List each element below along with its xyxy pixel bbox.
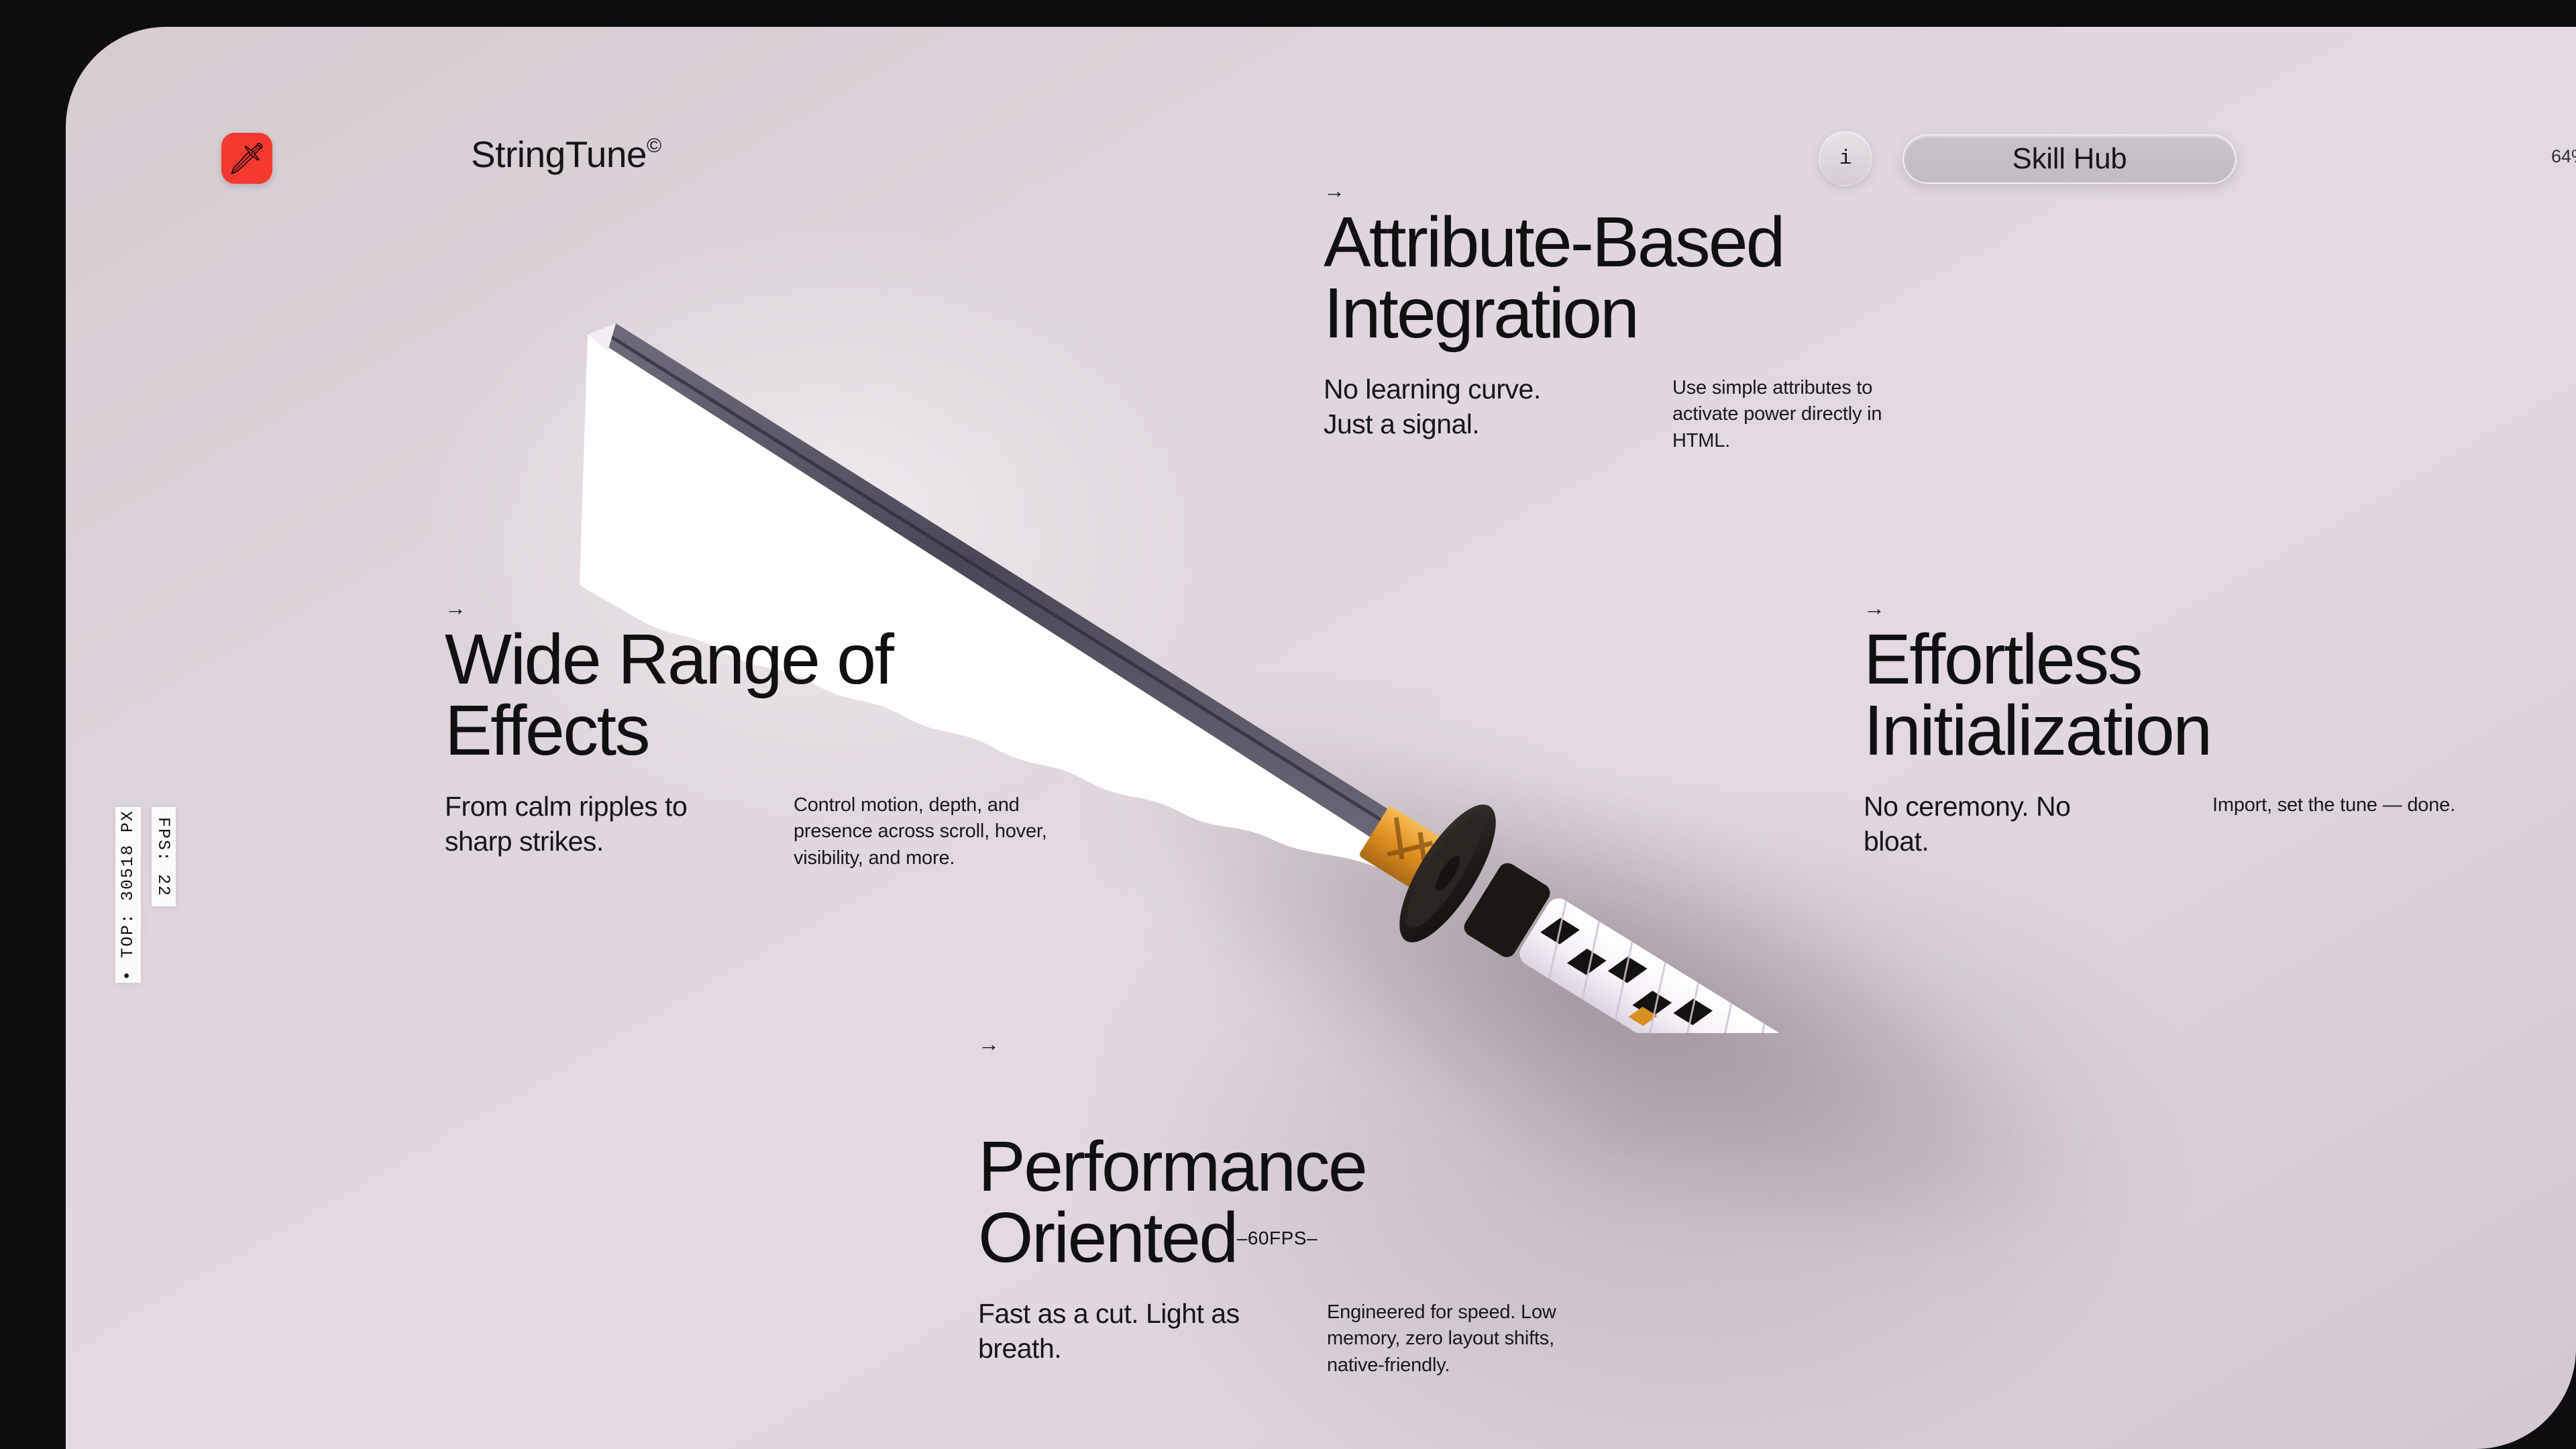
feature-lead: From calm ripples to sharp strikes. bbox=[445, 789, 794, 871]
feature-description: Import, set the tune — done. bbox=[2212, 792, 2548, 859]
scroll-top-value: • TOP: 30518 PX bbox=[119, 809, 138, 980]
copyright-mark: © bbox=[647, 135, 661, 157]
arrow-right-icon: → bbox=[1864, 597, 2576, 619]
feature-performance-oriented: → Performance Oriented–60FPS– Fast as a … bbox=[978, 1033, 1783, 1379]
feature-description: Control motion, depth, and presence acro… bbox=[794, 792, 1129, 871]
fps-value: FPS: 22 bbox=[154, 816, 174, 896]
feature-title: Wide Range of Effects bbox=[445, 624, 1183, 766]
feature-wide-range-of-effects: → Wide Range of Effects From calm ripple… bbox=[445, 597, 1183, 871]
feature-lead: No learning curve. Just a signal. bbox=[1324, 372, 1672, 454]
hero-stage: 🗡 StringTune© i Skill Hub 64% FPS: 22 • … bbox=[66, 27, 2576, 1449]
app-logo-icon[interactable]: 🗡 bbox=[221, 133, 272, 184]
feature-title: Effortless Initialization bbox=[1864, 624, 2576, 766]
katana-sword-icon: 🗡 bbox=[227, 143, 266, 174]
app-window: 🗡 StringTune© i Skill Hub 64% FPS: 22 • … bbox=[0, 0, 2576, 1449]
feature-title: Performance Oriented–60FPS– bbox=[978, 1060, 1783, 1273]
skill-hub-label: Skill Hub bbox=[2012, 142, 2127, 176]
feature-body: No ceremony. No bloat. Import, set the t… bbox=[1864, 789, 2576, 859]
arrow-right-icon: → bbox=[1324, 180, 2095, 201]
feature-body: Fast as a cut. Light as breath. Engineer… bbox=[978, 1296, 1783, 1379]
app-title-text: StringTune bbox=[471, 133, 647, 175]
top-bar: 🗡 StringTune© i Skill Hub 64% bbox=[66, 27, 2576, 188]
scroll-top-telemetry-strip: • TOP: 30518 PX bbox=[115, 807, 141, 983]
arrow-right-icon: → bbox=[445, 597, 1183, 619]
fps-telemetry-strip: FPS: 22 bbox=[152, 807, 176, 906]
feature-title-text: Performance Oriented bbox=[978, 1127, 1366, 1277]
feature-effortless-initialization: → Effortless Initialization No ceremony.… bbox=[1864, 597, 2576, 859]
feature-description: Use simple attributes to activate power … bbox=[1672, 375, 1961, 454]
feature-body: No learning curve. Just a signal. Use si… bbox=[1324, 372, 2095, 454]
feature-attribute-based-integration: → Attribute-Based Integration No learnin… bbox=[1324, 180, 2095, 454]
info-button[interactable]: i bbox=[1819, 131, 1872, 186]
zoom-level-indicator: 64% bbox=[2551, 146, 2576, 167]
fps-badge: –60FPS– bbox=[1237, 1228, 1318, 1248]
feature-lead: No ceremony. No bloat. bbox=[1864, 789, 2212, 859]
skill-hub-button[interactable]: Skill Hub bbox=[1902, 134, 2237, 184]
page-title: StringTune© bbox=[471, 133, 661, 176]
feature-description: Engineered for speed. Low memory, zero l… bbox=[1327, 1299, 1662, 1379]
feature-title: Attribute-Based Integration bbox=[1324, 207, 2095, 349]
feature-lead: Fast as a cut. Light as breath. bbox=[978, 1296, 1327, 1379]
arrow-right-icon: → bbox=[978, 1033, 1783, 1055]
info-icon: i bbox=[1839, 147, 1852, 170]
feature-body: From calm ripples to sharp strikes. Cont… bbox=[445, 789, 1183, 871]
